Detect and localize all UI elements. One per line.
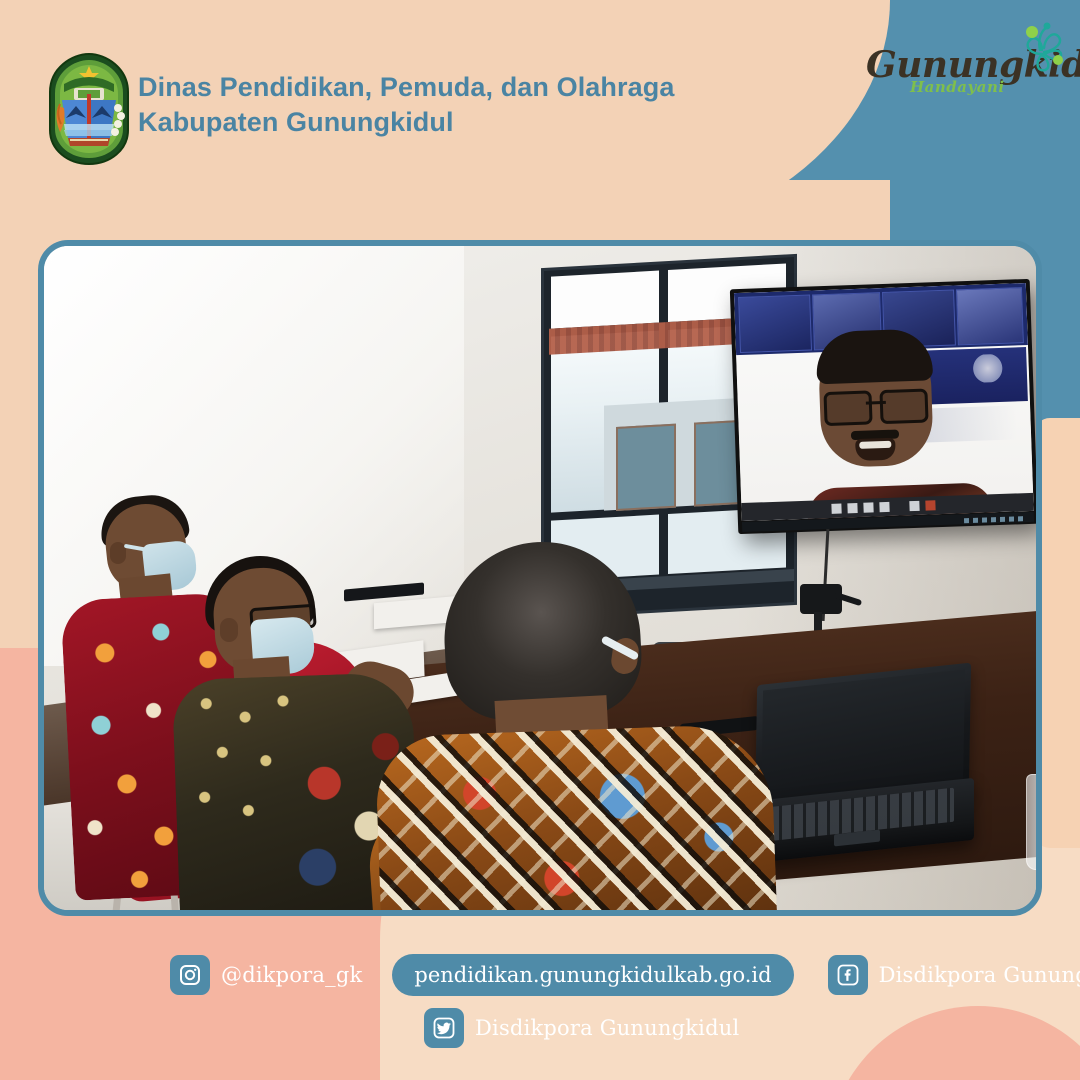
participant-thumbnail (956, 287, 1024, 345)
footer-row-secondary: Disdikpora Gunungkidul (424, 1008, 739, 1048)
butterfly-flower-ornament-icon (1012, 20, 1072, 76)
poster-canvas: Dinas Pendidikan, Pemuda, dan Olahraga K… (0, 0, 1080, 1080)
instagram-icon[interactable] (170, 955, 210, 995)
facebook-icon[interactable] (828, 955, 868, 995)
page-title: Dinas Pendidikan, Pemuda, dan Olahraga K… (138, 70, 758, 140)
twitter-label: Disdikpora Gunungkidul (475, 1016, 739, 1040)
slide-logo (972, 354, 1003, 383)
person-ear (220, 618, 238, 642)
participant-thumbnail (738, 295, 812, 353)
footer-row-primary: @dikpora_gk pendidikan.gunungkidulkab.go… (170, 954, 1080, 996)
title-line-2: Kabupaten Gunungkidul (138, 105, 758, 140)
hand-sanitizer-bottle (1026, 774, 1036, 870)
poster-footer: @dikpora_gk pendidikan.gunungkidulkab.go… (0, 938, 1080, 1080)
website-label: pendidikan.gunungkidulkab.go.id (414, 963, 771, 987)
gunungkidul-regency-emblem-icon (44, 52, 134, 166)
facebook-label: Disdikpora Gunungkidul (879, 963, 1080, 987)
instagram-label: @dikpora_gk (221, 963, 362, 987)
facebook-handle[interactable]: Disdikpora Gunungkidul (828, 955, 1080, 995)
wall-mounted-tv (730, 279, 1036, 534)
gunungkidul-handayani-logo: Gunungkidul Handayani (866, 46, 1066, 126)
title-line-1: Dinas Pendidikan, Pemuda, dan Olahraga (138, 70, 758, 105)
speaker-face (808, 332, 946, 505)
photo-card (38, 240, 1042, 916)
person-front-batik-shirt (375, 723, 778, 910)
meeting-photo (44, 246, 1036, 910)
twitter-icon[interactable] (424, 1008, 464, 1048)
video-conference-screen (734, 283, 1034, 521)
camera-tripod-head (800, 584, 842, 614)
poster-header: Dinas Pendidikan, Pemuda, dan Olahraga K… (0, 0, 1080, 200)
twitter-handle[interactable]: Disdikpora Gunungkidul (424, 1008, 739, 1048)
instagram-handle[interactable]: @dikpora_gk (170, 955, 362, 995)
website-pill[interactable]: pendidikan.gunungkidulkab.go.id (392, 954, 793, 996)
